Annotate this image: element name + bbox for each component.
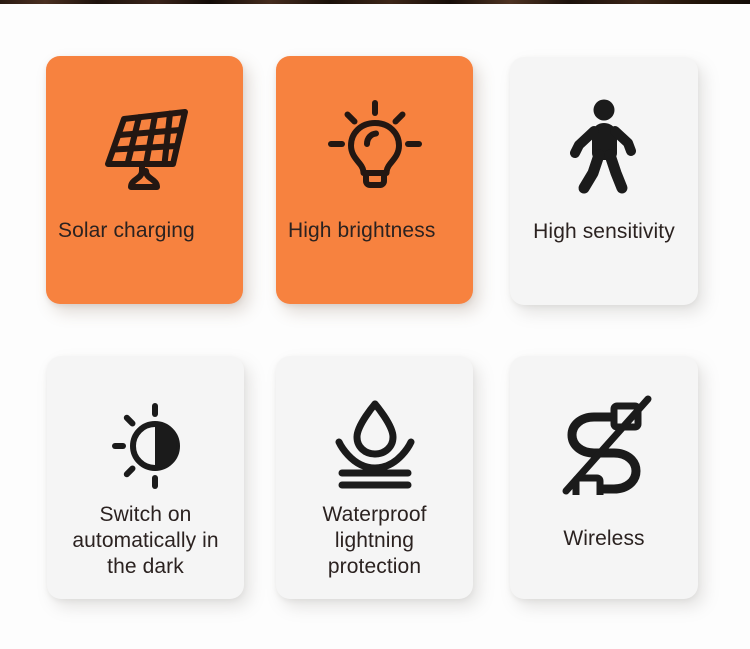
- feature-card-label: Waterproof lightning protection: [276, 502, 473, 580]
- feature-card-label: Wireless: [510, 526, 698, 552]
- feature-card-label: High sensitivity: [510, 219, 698, 245]
- feature-card-high-brightness[interactable]: High brightness: [276, 56, 473, 304]
- feature-card-label: High brightness: [276, 218, 473, 244]
- solar-panel-icon: [46, 92, 243, 202]
- feature-card-auto-switch-dark[interactable]: Switch on automatically in the dark: [47, 356, 244, 599]
- feature-card-wireless[interactable]: Wireless: [510, 356, 698, 599]
- waterproof-droplet-icon: [276, 392, 473, 496]
- no-cable-icon: [510, 384, 698, 502]
- feature-card-solar-charging[interactable]: Solar charging: [46, 56, 243, 304]
- feature-card-high-sensitivity[interactable]: High sensitivity: [510, 57, 698, 305]
- feature-card-waterproof-lightning[interactable]: Waterproof lightning protection: [276, 356, 473, 599]
- feature-card-label: Solar charging: [46, 218, 243, 244]
- feature-card-label: Switch on automatically in the dark: [47, 502, 244, 580]
- brightness-contrast-icon: [47, 396, 244, 496]
- feature-grid: Solar charging: [0, 4, 750, 649]
- light-bulb-icon: [276, 92, 473, 202]
- walking-person-icon: [510, 93, 698, 203]
